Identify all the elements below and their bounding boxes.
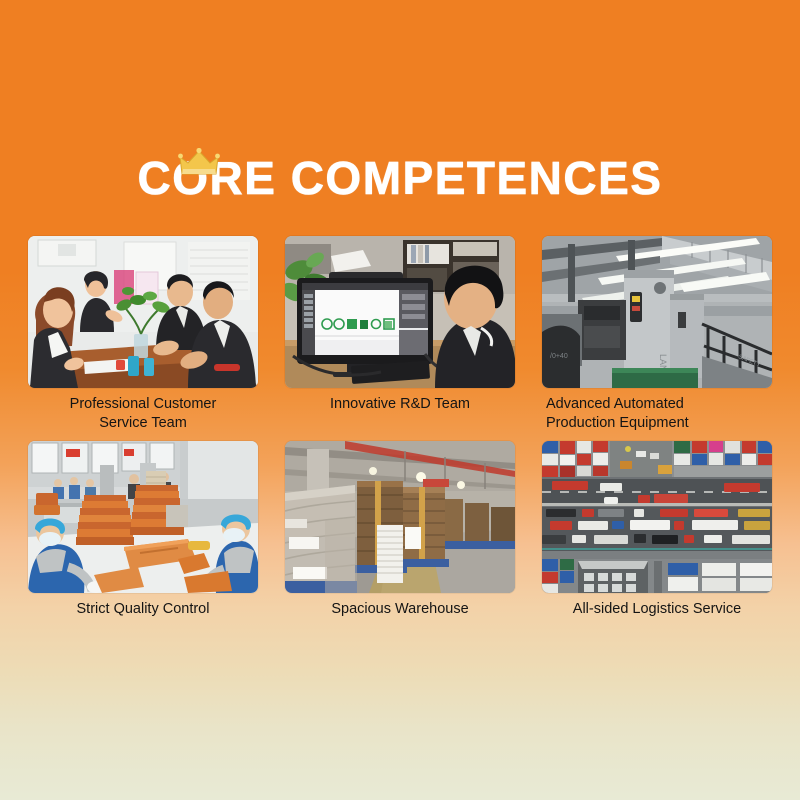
card-professional-customer-service-team[interactable]: Professional Customer Service Team [28, 236, 258, 437]
competences-grid: Professional Customer Service Team [28, 236, 772, 624]
card-caption: All-sided Logistics Service [542, 600, 772, 624]
meeting-room-photo [28, 236, 258, 388]
card-caption: Spacious Warehouse [285, 600, 515, 624]
caption-line-1: Advanced Automated [546, 396, 684, 412]
crown-icon [178, 148, 220, 178]
warehouse-pallets-photo [285, 441, 515, 593]
card-spacious-warehouse[interactable]: Spacious Warehouse [285, 441, 515, 624]
printing-press-photo: LAND 800 /0+40 [542, 236, 772, 388]
card-caption: Advanced Automated Production Equipment [542, 395, 772, 437]
caption-line-1: Spacious Warehouse [331, 601, 468, 617]
card-strict-quality-control[interactable]: Strict Quality Control [28, 441, 258, 624]
caption-line-1: All-sided Logistics Service [573, 601, 741, 617]
svg-text:/0+40: /0+40 [550, 353, 568, 360]
caption-line-1: Strict Quality Control [77, 601, 210, 617]
caption-line-1: Innovative R&D Team [330, 396, 470, 412]
caption-line-2: Production Equipment [546, 415, 689, 431]
designer-at-computer-photo [285, 236, 515, 388]
card-all-sided-logistics-service[interactable]: All-sided Logistics Service [542, 441, 772, 624]
card-innovative-rd-team[interactable]: Innovative R&D Team [285, 236, 515, 437]
card-caption: Strict Quality Control [28, 600, 258, 624]
card-advanced-automated-production-equipment[interactable]: LAND 800 /0+40 [542, 236, 772, 437]
caption-line-2: Service Team [99, 415, 187, 431]
banner-header: CORE COMPETENCES [0, 152, 800, 204]
quality-inspection-photo [28, 441, 258, 593]
core-competences-banner: CORE COMPETENCES [0, 0, 800, 800]
caption-line-1: Professional Customer [70, 396, 217, 412]
card-caption: Professional Customer Service Team [28, 395, 258, 437]
card-caption: Innovative R&D Team [285, 395, 515, 437]
aerial-container-port-photo [542, 441, 772, 593]
